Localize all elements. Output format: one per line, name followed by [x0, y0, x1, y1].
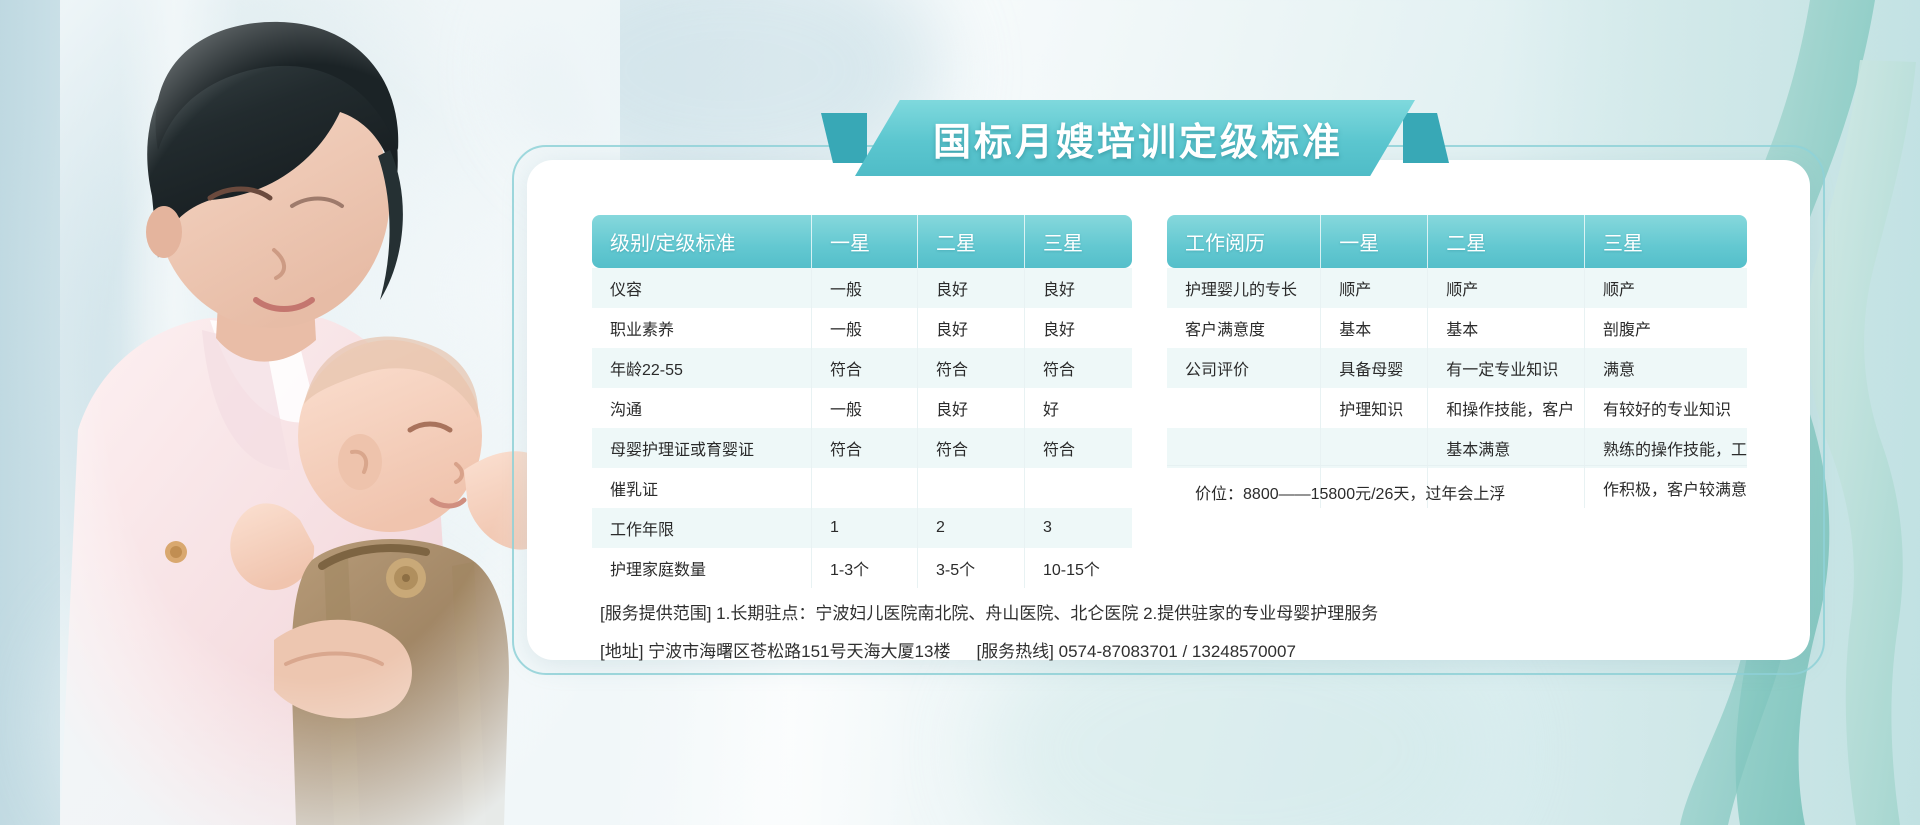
tables-container: 级别/定级标准 一星 二星 三星 仪容 一般 良好 良好 职业素养 一般 良好 — [527, 160, 1810, 660]
row-two-star: 良好 — [918, 388, 1025, 428]
right-header-three-star: 三星 — [1585, 215, 1747, 268]
row-label: 职业素养 — [592, 308, 812, 348]
row-two-star: 良好 — [918, 308, 1025, 348]
row-label: 护理婴儿的专长 — [1167, 268, 1321, 308]
row-two-star: 顺产 — [1428, 268, 1585, 308]
row-label: 护理家庭数量 — [592, 548, 812, 588]
row-three-star: 顺产 — [1585, 268, 1747, 308]
row-one-star: 顺产 — [1321, 268, 1428, 308]
left-header-two-star: 二星 — [918, 215, 1025, 268]
row-label: 客户满意度 — [1167, 308, 1321, 348]
row-three-star: 有较好的专业知识 — [1585, 388, 1747, 428]
row-three-star: 10-15个 — [1025, 548, 1132, 588]
row-one-star: 一般 — [812, 308, 918, 348]
background-band-left — [0, 0, 150, 825]
row-two-star: 有一定专业知识 — [1428, 348, 1585, 388]
row-three-star: 3 — [1025, 508, 1132, 548]
row-label: 公司评价 — [1167, 348, 1321, 388]
row-one-star: 一般 — [812, 268, 918, 308]
table-header-row: 工作阅历 一星 二星 三星 — [1167, 215, 1747, 268]
right-header-two-star: 二星 — [1428, 215, 1585, 268]
row-label: 仪容 — [592, 268, 812, 308]
row-three-star: 符合 — [1025, 348, 1132, 388]
row-three-star: 符合 — [1025, 428, 1132, 468]
row-label: 年龄22-55 — [592, 348, 812, 388]
table-header-row: 级别/定级标准 一星 二星 三星 — [592, 215, 1132, 268]
table-row: 护理婴儿的专长 顺产 顺产 顺产 — [1167, 268, 1747, 308]
right-header-experience: 工作阅历 — [1167, 215, 1321, 268]
row-one-star: 1 — [812, 508, 918, 548]
row-two-star: 2 — [918, 508, 1025, 548]
table-row: 客户满意度 基本 基本 剖腹产 — [1167, 308, 1747, 348]
row-one-star: 1-3个 — [812, 548, 918, 588]
row-three-star — [1025, 468, 1132, 508]
page-title: 国标月嫂培训定级标准 — [855, 100, 1415, 176]
grading-standards-table: 级别/定级标准 一星 二星 三星 仪容 一般 良好 良好 职业素养 一般 良好 — [592, 215, 1132, 588]
row-label — [1167, 388, 1321, 428]
left-header-criteria: 级别/定级标准 — [592, 215, 812, 268]
row-one-star: 符合 — [812, 428, 918, 468]
footnote-contact-line: [地址] 宁波市海曙区苍松路151号天海大厦13楼[服务热线] 0574-870… — [600, 633, 1800, 671]
row-one-star: 具备母婴 — [1321, 348, 1428, 388]
title-banner: 国标月嫂培训定级标准 — [855, 100, 1415, 176]
table-row: 沟通 一般 良好 好 — [592, 388, 1132, 428]
table-row: 护理家庭数量 1-3个 3-5个 10-15个 — [592, 548, 1132, 588]
table-row: 护理知识 和操作技能，客户 有较好的专业知识 — [1167, 388, 1747, 428]
row-one-star — [812, 468, 918, 508]
row-three-star: 满意 — [1585, 348, 1747, 388]
left-header-one-star: 一星 — [812, 215, 918, 268]
row-label: 母婴护理证或育婴证 — [592, 428, 812, 468]
row-label — [1167, 428, 1321, 468]
table-row: 仪容 一般 良好 良好 — [592, 268, 1132, 308]
row-two-star: 3-5个 — [918, 548, 1025, 588]
table-row: 公司评价 具备母婴 有一定专业知识 满意 — [1167, 348, 1747, 388]
price-note: 价位：8800——15800元/26天，过年会上浮 — [1167, 465, 1747, 504]
row-two-star: 和操作技能，客户 — [1428, 388, 1585, 428]
row-three-star: 剖腹产 — [1585, 308, 1747, 348]
table-row: 母婴护理证或育婴证 符合 符合 符合 — [592, 428, 1132, 468]
table-row: 基本满意 熟练的操作技能，工 — [1167, 428, 1747, 468]
row-three-star: 好 — [1025, 388, 1132, 428]
row-three-star: 良好 — [1025, 308, 1132, 348]
row-label: 工作年限 — [592, 508, 812, 548]
table-row: 工作年限 1 2 3 — [592, 508, 1132, 548]
row-label: 催乳证 — [592, 468, 812, 508]
row-two-star: 基本满意 — [1428, 428, 1585, 468]
row-two-star: 基本 — [1428, 308, 1585, 348]
row-two-star: 良好 — [918, 268, 1025, 308]
background-blob-bottom-left — [60, 560, 480, 825]
row-one-star — [1321, 428, 1428, 468]
row-one-star: 符合 — [812, 348, 918, 388]
row-one-star: 基本 — [1321, 308, 1428, 348]
footnote-service-scope: [服务提供范围] 1.长期驻点：宁波妇儿医院南北院、舟山医院、北仑医院 2.提供… — [600, 595, 1800, 633]
row-three-star: 熟练的操作技能，工 — [1585, 428, 1747, 468]
right-header-one-star: 一星 — [1321, 215, 1428, 268]
price-value: 8800——15800元/26天，过年会上浮 — [1243, 486, 1505, 503]
row-two-star — [918, 468, 1025, 508]
table-row: 年龄22-55 符合 符合 符合 — [592, 348, 1132, 388]
table-row: 职业素养 一般 良好 良好 — [592, 308, 1132, 348]
left-header-three-star: 三星 — [1025, 215, 1132, 268]
standards-card: 级别/定级标准 一星 二星 三星 仪容 一般 良好 良好 职业素养 一般 良好 — [527, 160, 1810, 660]
price-label: 价位： — [1195, 486, 1243, 503]
background-band-left-light — [120, 0, 240, 825]
row-one-star: 一般 — [812, 388, 918, 428]
row-two-star: 符合 — [918, 348, 1025, 388]
row-two-star: 符合 — [918, 428, 1025, 468]
row-three-star: 良好 — [1025, 268, 1132, 308]
footnote-hotline: [服务热线] 0574-87083701 / 13248570007 — [976, 642, 1295, 661]
row-one-star: 护理知识 — [1321, 388, 1428, 428]
row-label: 沟通 — [592, 388, 812, 428]
table-row: 催乳证 — [592, 468, 1132, 508]
footnotes: [服务提供范围] 1.长期驻点：宁波妇儿医院南北院、舟山医院、北仑医院 2.提供… — [600, 595, 1800, 671]
footnote-address: [地址] 宁波市海曙区苍松路151号天海大厦13楼 — [600, 642, 950, 661]
